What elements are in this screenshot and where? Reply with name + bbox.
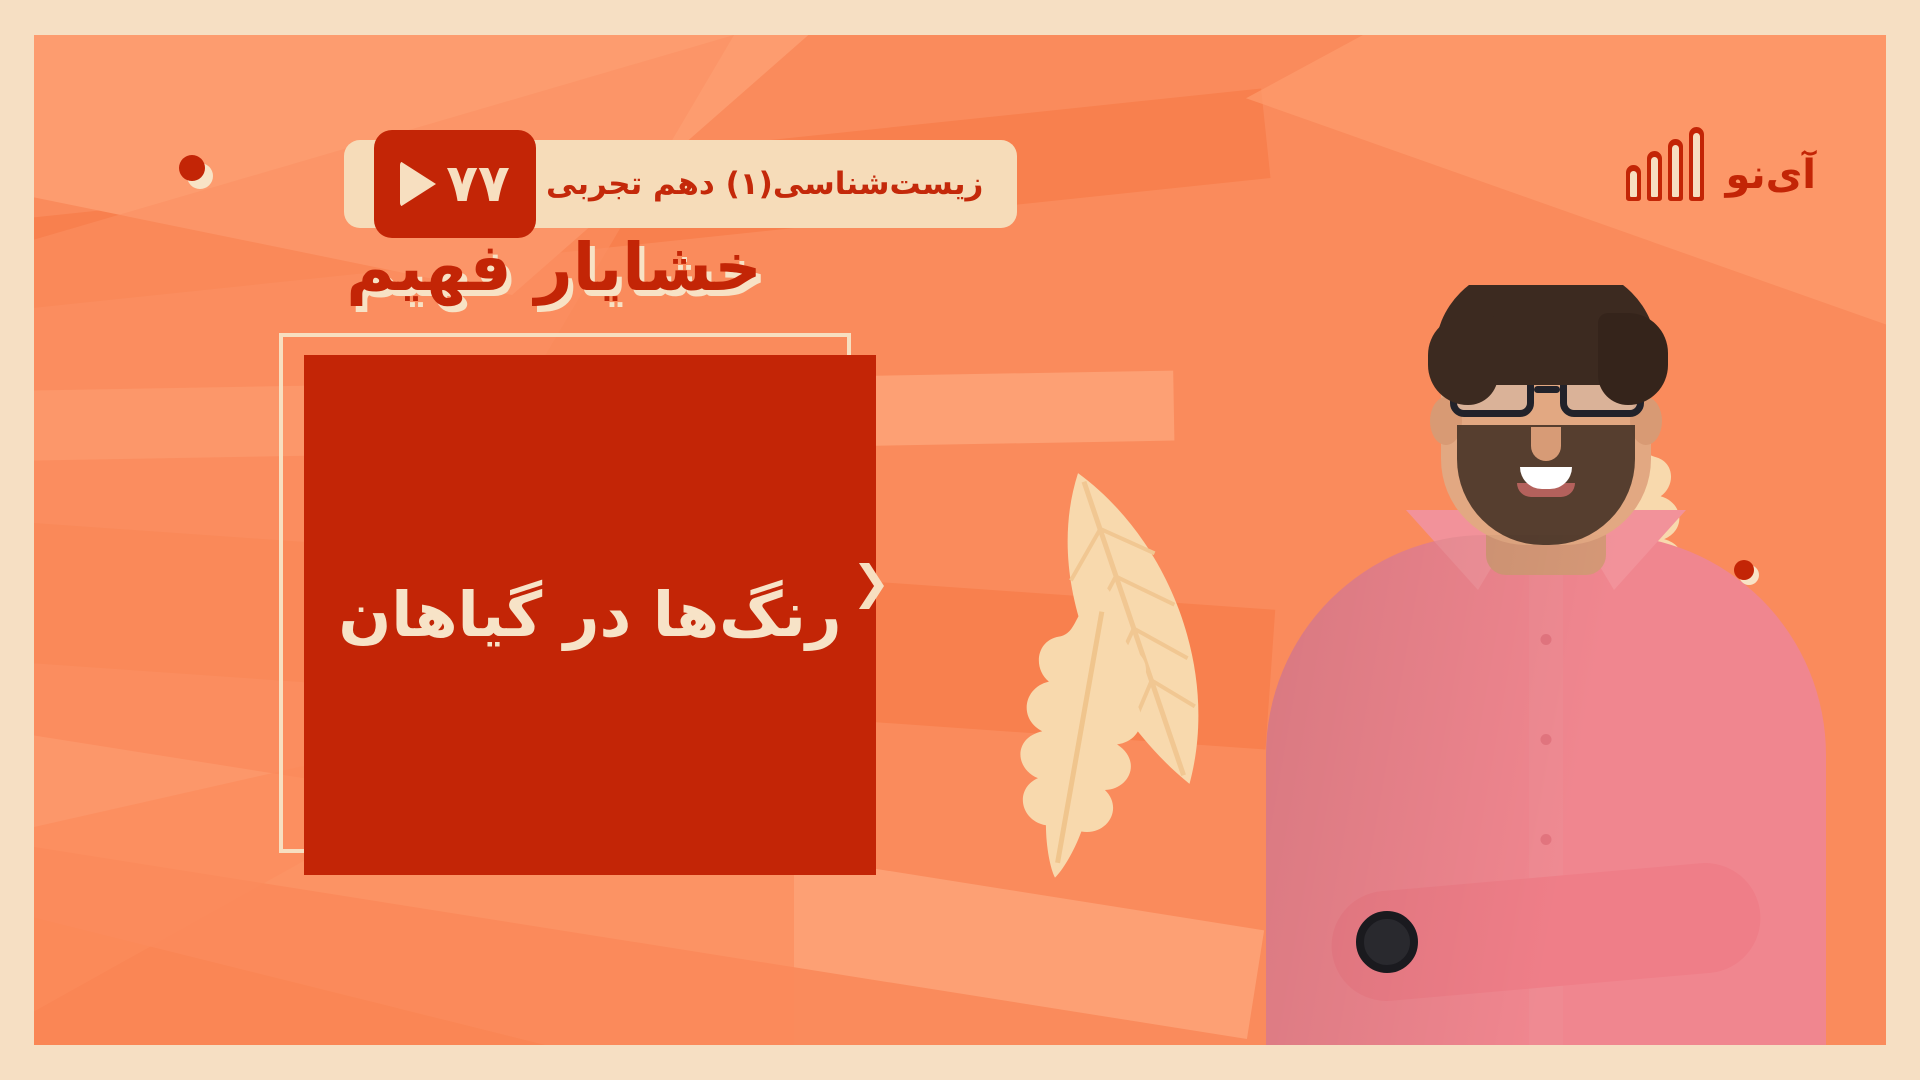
play-triangle-icon: [400, 161, 436, 207]
orange-panel: ۷۷ زیست‌شناسی(۱) دهم تجربی خشایار فهیم ر…: [34, 35, 1886, 1045]
episode-badge[interactable]: ۷۷: [374, 130, 536, 238]
chevron-right-icon: ❯: [852, 555, 891, 609]
episode-number: ۷۷: [446, 158, 509, 210]
ino-bars-logo-icon: [1626, 127, 1712, 201]
course-label: زیست‌شناسی(۱) دهم تجربی: [536, 166, 1017, 202]
instructor-name: خشایار فهیم: [34, 235, 1074, 301]
lesson-title: رنگ‌ها در گیاهان: [310, 576, 869, 654]
brand-logo[interactable]: آی‌نو: [1626, 127, 1816, 201]
brand-name: آی‌نو: [1726, 155, 1816, 201]
presenter-photo: [1236, 285, 1856, 1045]
thumbnail-canvas: ۷۷ زیست‌شناسی(۱) دهم تجربی خشایار فهیم ر…: [0, 0, 1920, 1080]
course-tag-pill[interactable]: ۷۷ زیست‌شناسی(۱) دهم تجربی: [344, 140, 1017, 228]
title-card[interactable]: رنگ‌ها در گیاهان: [304, 355, 876, 875]
decor-dot-left: [179, 155, 205, 181]
